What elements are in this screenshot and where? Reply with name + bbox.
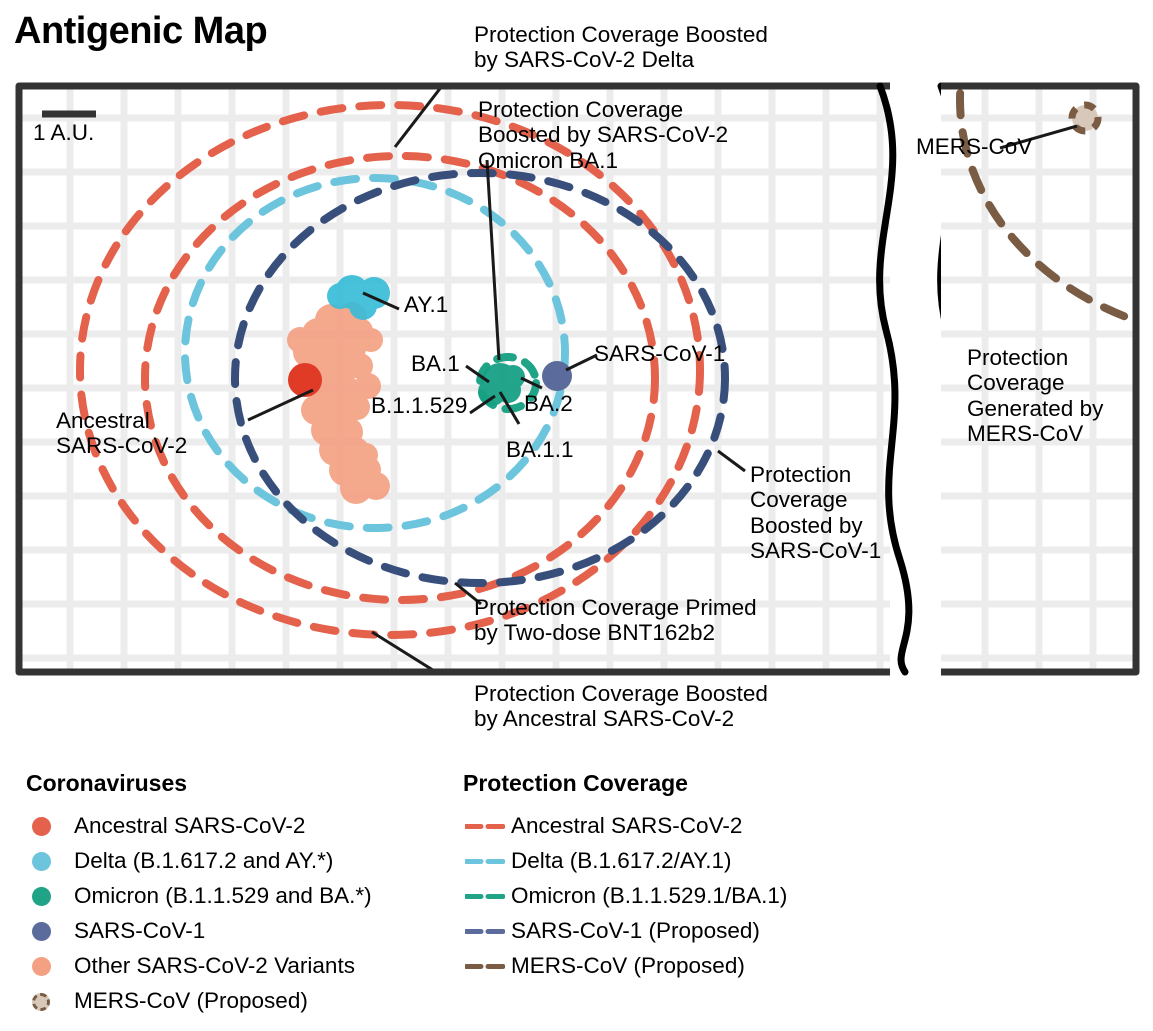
legend-label: Delta (B.1.617.2 and AY.*): [74, 850, 333, 873]
legend-swatch-wrap: [26, 852, 74, 871]
legend-swatch-wrap: [26, 817, 74, 836]
legend-coverage-item-sars-cov-1[interactable]: SARS-CoV-1 (Proposed): [463, 914, 787, 949]
legend-swatch-wrap: [26, 922, 74, 941]
circle-icon: [32, 887, 51, 906]
circle-icon: [32, 922, 51, 941]
legend-label: MERS-CoV (Proposed): [74, 990, 308, 1013]
annotation-sars1-boost: Protection Coverage Boosted by SARS-CoV-…: [750, 462, 881, 564]
label-sars-cov-1: SARS-CoV-1: [594, 341, 725, 366]
legend-coronaviruses: Coronaviruses Ancestral SARS-CoV-2 Delta…: [26, 770, 372, 1019]
label-ba11: BA.1.1: [506, 437, 574, 462]
legend-swatch-wrap: [463, 964, 511, 969]
annotation-bnt162b2-primed: Protection Coverage Primed by Two-dose B…: [474, 595, 757, 646]
dashed-line-icon: [465, 824, 505, 829]
legend-label: Other SARS-CoV-2 Variants: [74, 955, 355, 978]
dashed-circle-icon: [32, 993, 50, 1011]
circle-icon: [32, 817, 51, 836]
dashed-line-icon: [465, 894, 505, 899]
label-mers-cov: MERS-CoV: [916, 134, 1032, 159]
annotation-ancestral-boost: Protection Coverage Boosted by Ancestral…: [474, 681, 768, 732]
legend-coverage-item-mers[interactable]: MERS-CoV (Proposed): [463, 949, 787, 984]
annotation-mers-generated: Protection Coverage Generated by MERS-Co…: [967, 345, 1103, 447]
legend-swatch-wrap: [463, 859, 511, 864]
legend-item-sars-cov-1[interactable]: SARS-CoV-1: [26, 914, 372, 949]
label-ba2: BA.2: [524, 391, 573, 416]
legend-swatch-wrap: [26, 993, 74, 1011]
point-ancestral-sars-cov-2: [288, 363, 322, 397]
circle-icon: [32, 957, 51, 976]
legend-swatch-wrap: [463, 929, 511, 934]
legend-coverage-item-omicron[interactable]: Omicron (B.1.1.529.1/BA.1): [463, 879, 787, 914]
point-sars-cov-1: [542, 361, 572, 391]
legend-swatch-wrap: [463, 894, 511, 899]
legend-label: Ancestral SARS-CoV-2: [74, 815, 305, 838]
legend-label: SARS-CoV-1 (Proposed): [511, 920, 760, 943]
legend-item-mers[interactable]: MERS-CoV (Proposed): [26, 984, 372, 1019]
label-ancestral-sars-cov-2: Ancestral SARS-CoV-2: [56, 408, 187, 459]
dashed-line-icon: [465, 859, 505, 864]
legend-protection-coverage: Protection Coverage Ancestral SARS-CoV-2…: [463, 770, 787, 984]
legend-label: Delta (B.1.617.2/AY.1): [511, 850, 732, 873]
legend-label: Omicron (B.1.1.529.1/BA.1): [511, 885, 787, 908]
label-ba1: BA.1: [411, 351, 460, 376]
legend-item-ancestral[interactable]: Ancestral SARS-CoV-2: [26, 809, 372, 844]
annotation-delta-boost: Protection Coverage Boosted by SARS-CoV-…: [474, 22, 768, 73]
legend-swatch-wrap: [463, 824, 511, 829]
label-ay1: AY.1: [404, 292, 448, 317]
scale-bar-label: 1 A.U.: [33, 120, 94, 145]
legend-coronaviruses-title: Coronaviruses: [26, 770, 372, 797]
annotation-omicron-boost: Protection Coverage Boosted by SARS-CoV-…: [478, 97, 728, 173]
legend-coverage-item-delta[interactable]: Delta (B.1.617.2/AY.1): [463, 844, 787, 879]
legend-label: MERS-CoV (Proposed): [511, 955, 745, 978]
label-b11529: B.1.1.529: [371, 393, 467, 418]
legend-coverage-item-ancestral[interactable]: Ancestral SARS-CoV-2: [463, 809, 787, 844]
legend-swatch-wrap: [26, 957, 74, 976]
legend-item-delta[interactable]: Delta (B.1.617.2 and AY.*): [26, 844, 372, 879]
legend-item-omicron[interactable]: Omicron (B.1.1.529 and BA.*): [26, 879, 372, 914]
legend-label: Omicron (B.1.1.529 and BA.*): [74, 885, 372, 908]
dashed-line-icon: [465, 929, 505, 934]
legend-protection-title: Protection Coverage: [463, 770, 787, 797]
dashed-line-icon: [465, 964, 505, 969]
circle-icon: [32, 852, 51, 871]
legend-item-other-variants[interactable]: Other SARS-CoV-2 Variants: [26, 949, 372, 984]
legend-label: SARS-CoV-1: [74, 920, 205, 943]
right-panel: [941, 0, 1153, 674]
legend-label: Ancestral SARS-CoV-2: [511, 815, 742, 838]
legend-swatch-wrap: [26, 887, 74, 906]
